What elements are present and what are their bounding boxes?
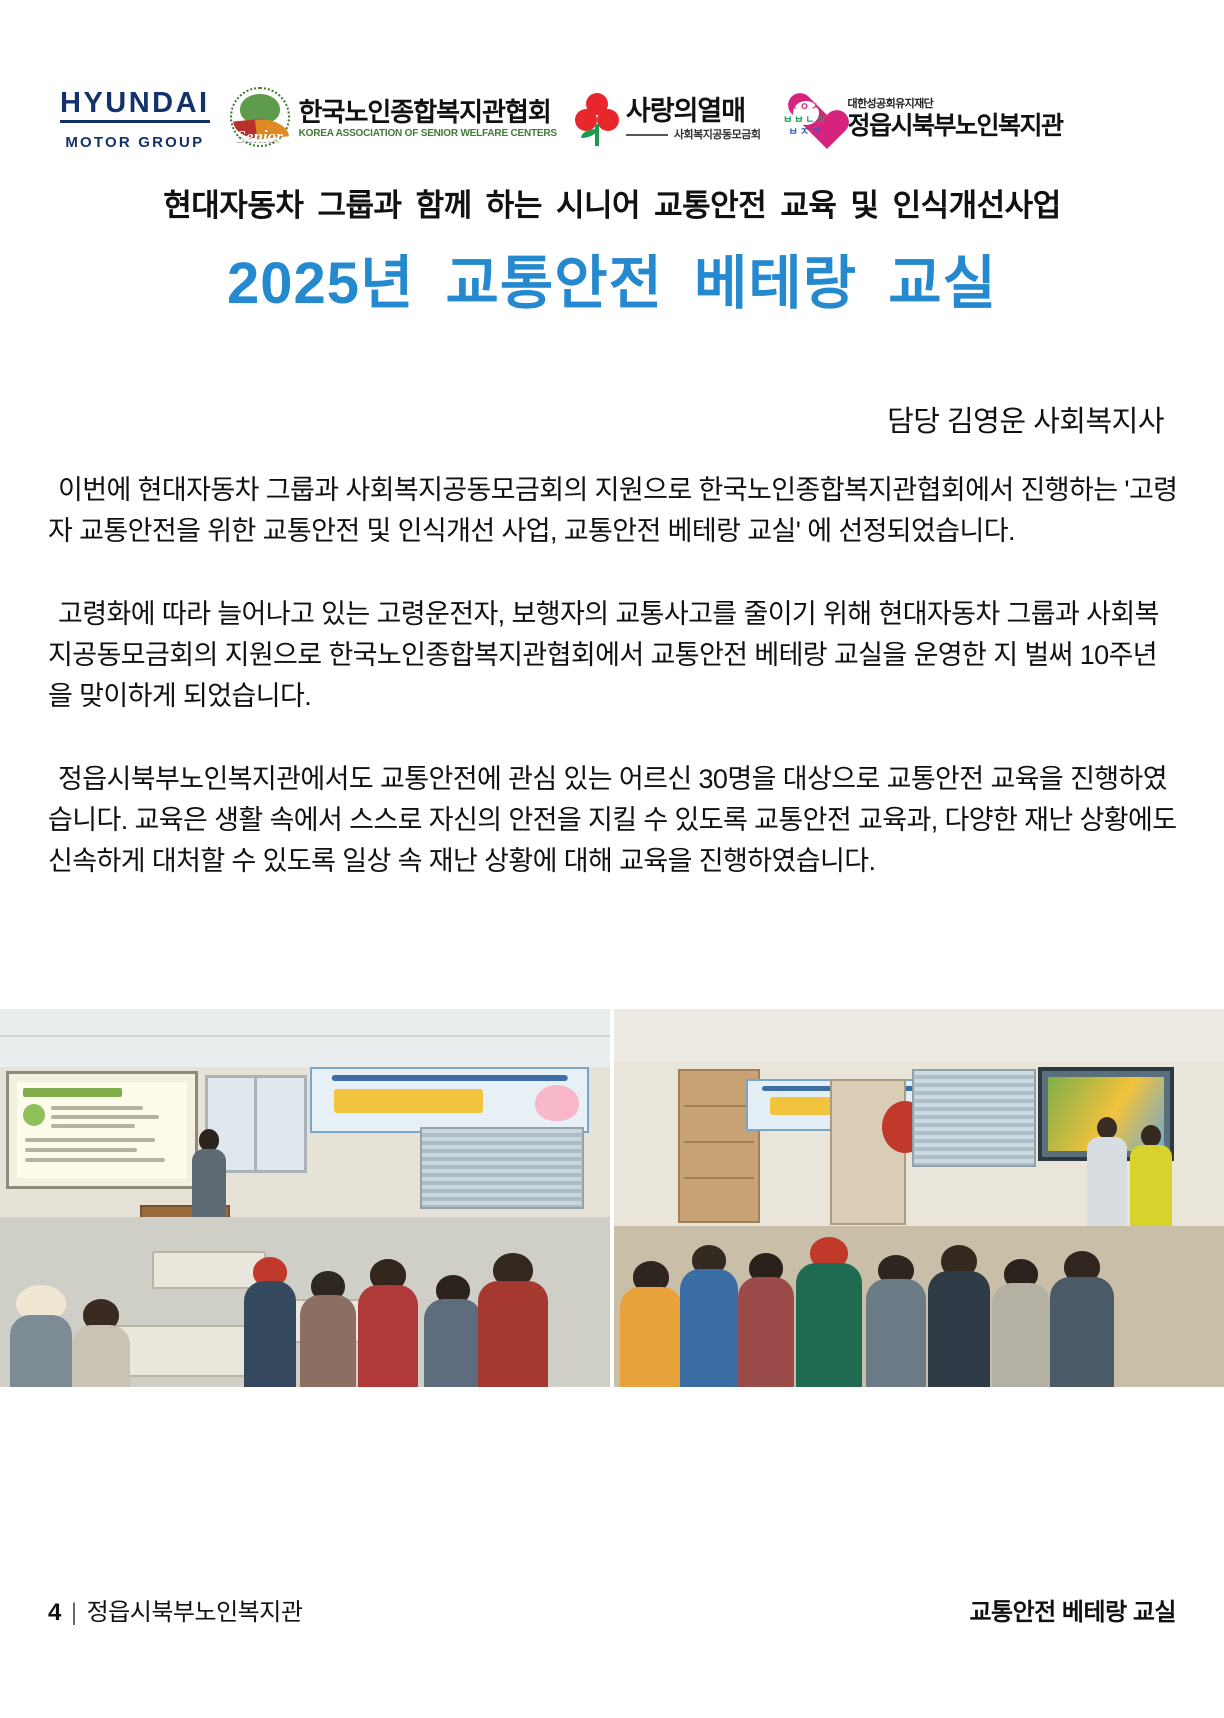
audience-person [992, 1259, 1050, 1387]
senior-emblem-word: Senior [228, 127, 292, 147]
byline: 담당 김영운 사회복지사 [0, 398, 1164, 440]
audience-person [478, 1253, 548, 1387]
hyundai-subtitle: MOTOR GROUP [65, 135, 204, 150]
logo-korea-association-of-senior-welfare-centers: Senior 한국노인종합복지관협회 KOREA ASSOCIATION OF … [228, 87, 557, 151]
heart-icon: ㅈㅇㅅ ㅂㅂㄴㅇ ㅂㅈㄱ [778, 90, 840, 148]
audience-person [300, 1271, 356, 1387]
audience-person [796, 1237, 862, 1387]
audience-person [1050, 1251, 1114, 1387]
jamo-row-2: ㅂㅂㄴㅇ [783, 115, 828, 126]
page-footer: 4|정읍시북부노인복지관 교통안전 베테랑 교실 [0, 1592, 1224, 1632]
instructor-figure [188, 1129, 230, 1221]
projector-screen [6, 1071, 198, 1189]
kasw-english-name: KOREA ASSOCIATION OF SENIOR WELFARE CENT… [299, 129, 557, 139]
page-title: 2025년 교통안전 베테랑 교실 [0, 236, 1224, 320]
hyundai-wordmark: HYUNDAI [60, 89, 210, 123]
page-number: 4 [48, 1599, 61, 1626]
logo-community-chest-of-korea: 사랑의열매 사회복지공동모금회 [575, 91, 761, 147]
foundation-name: 대한성공회유지재단 [847, 99, 1062, 110]
chest-divider-rule [626, 134, 668, 136]
jamo-row-1: ㅈㅇㅅ [789, 102, 823, 113]
kasw-korean-name: 한국노인종합복지관협회 [299, 99, 557, 125]
footer-left: 4|정읍시북부노인복지관 [48, 1592, 302, 1627]
audience-person [358, 1259, 418, 1387]
document-page: HYUNDAI MOTOR GROUP Senior 한국노인종합복지관협회 K… [0, 0, 1224, 1718]
logo-jeongeup-bukbu-senior-welfare-center: ㅈㅇㅅ ㅂㅂㄴㅇ ㅂㅈㄱ 대한성공회유지재단 정읍시북부노인복지관 [778, 90, 1062, 148]
audience-person [620, 1261, 682, 1387]
audience-person [738, 1253, 794, 1387]
audience-person [866, 1255, 926, 1387]
chest-korean-name: 사랑의열매 [626, 98, 761, 125]
chest-subtitle: 사회복지공동모금회 [674, 130, 761, 141]
instructor-figure [1084, 1117, 1130, 1235]
article-body: 이번에 현대자동차 그룹과 사회복지공동모금회의 지원으로 한국노인종합복지관협… [48, 470, 1178, 924]
jamo-row-3: ㅂㅈㄱ [789, 127, 823, 138]
paragraph-2: 고령화에 따라 늘어나고 있는 고령운전자, 보행자의 교통사고를 줄이기 위해… [48, 594, 1178, 717]
photo-strip [0, 1009, 1224, 1387]
footer-program: 교통안전 베테랑 교실 [969, 1592, 1176, 1627]
logo-hyundai-motor-group: HYUNDAI MOTOR GROUP [60, 89, 210, 150]
fruit-of-love-icon [575, 91, 619, 147]
photo-right [614, 1009, 1224, 1387]
paragraph-3: 정읍시북부노인복지관에서도 교통안전에 관심 있는 어르신 30명을 대상으로 … [48, 759, 1178, 882]
page-kicker: 현대자동차 그룹과 함께 하는 시니어 교통안전 교육 및 인식개선사업 [0, 180, 1224, 225]
audience-person [680, 1245, 738, 1387]
audience-person [928, 1245, 990, 1387]
paragraph-1: 이번에 현대자동차 그룹과 사회복지공동모금회의 지원으로 한국노인종합복지관협… [48, 470, 1178, 552]
photo-left [0, 1009, 610, 1387]
senior-emblem-icon: Senior [228, 87, 292, 151]
audience-person [244, 1257, 296, 1387]
event-banner-left [310, 1067, 589, 1133]
footer-organization: 정읍시북부노인복지관 [87, 1599, 303, 1626]
audience-person [8, 1285, 74, 1387]
sponsor-logo-bar: HYUNDAI MOTOR GROUP Senior 한국노인종합복지관협회 K… [60, 78, 1170, 160]
audience-person [424, 1275, 482, 1387]
footer-separator: | [71, 1599, 77, 1626]
staff-figure [1130, 1125, 1172, 1235]
audience-person [72, 1299, 130, 1387]
center-name: 정읍시북부노인복지관 [847, 114, 1062, 139]
